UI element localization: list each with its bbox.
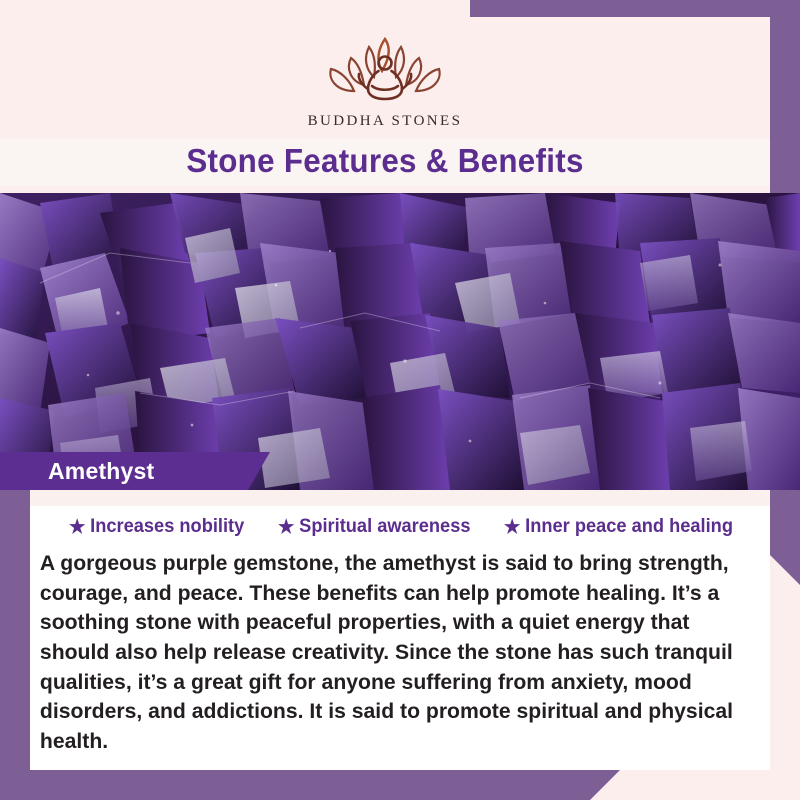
feature-label: Increases nobility bbox=[90, 516, 244, 538]
frame-band-bottom bbox=[0, 770, 620, 800]
stone-name-label: Amethyst bbox=[0, 458, 154, 485]
brand-name: BUDDHA STONES bbox=[308, 113, 463, 130]
star-icon: ★ bbox=[69, 518, 85, 537]
frame-band-left bbox=[0, 490, 30, 770]
page-header: BUDDHA STONES Stone Features & Benefits bbox=[0, 17, 770, 193]
feature-item-2: ★ Spiritual awareness bbox=[278, 516, 470, 538]
hero-image bbox=[0, 193, 800, 490]
feature-label: Spiritual awareness bbox=[299, 516, 470, 538]
content-top-strip bbox=[30, 490, 770, 506]
brand-logo: BUDDHA STONES bbox=[308, 31, 463, 130]
page-title: Stone Features & Benefits bbox=[19, 142, 751, 180]
frame-band-top bbox=[470, 0, 800, 17]
feature-item-3: ★ Inner peace and healing bbox=[504, 516, 733, 538]
amethyst-crystal-cluster-graphic bbox=[0, 193, 800, 490]
feature-item-1: ★ Increases nobility bbox=[69, 516, 244, 538]
star-icon: ★ bbox=[504, 518, 520, 537]
feature-label: Inner peace and healing bbox=[525, 516, 733, 538]
stone-description: A gorgeous purple gemstone, the amethyst… bbox=[34, 549, 755, 757]
lotus-meditation-figure-icon bbox=[310, 31, 460, 109]
title-bar: Stone Features & Benefits bbox=[0, 139, 770, 186]
feature-list: ★ Increases nobility ★ Spiritual awarene… bbox=[34, 516, 766, 538]
content-panel: ★ Increases nobility ★ Spiritual awarene… bbox=[30, 506, 770, 770]
stone-name-ribbon: Amethyst bbox=[0, 452, 270, 490]
star-icon: ★ bbox=[278, 518, 294, 537]
